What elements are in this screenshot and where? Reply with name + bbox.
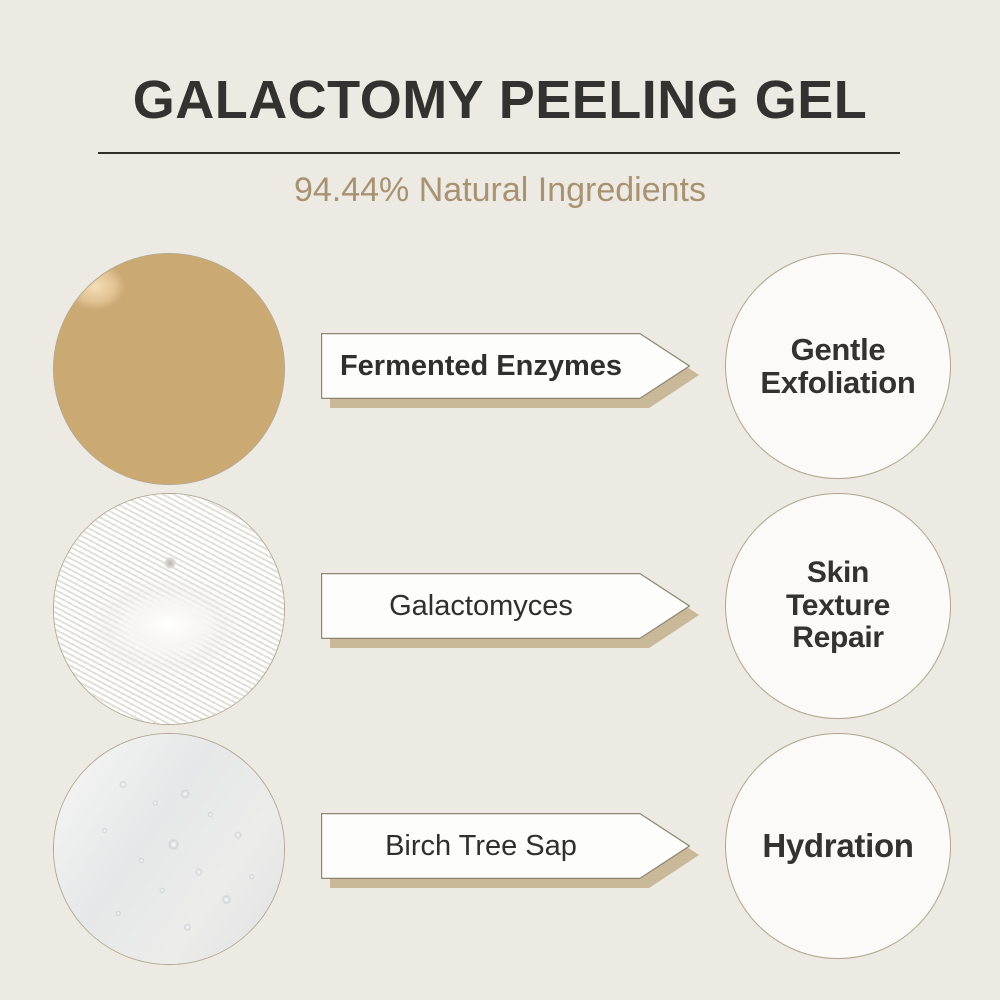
benefit-line: Skin	[786, 557, 890, 589]
soybeans-image	[54, 254, 284, 484]
ingredient-label: Galactomyces	[321, 573, 641, 639]
ingredient-label: Birch Tree Sap	[321, 813, 641, 879]
title-divider	[98, 152, 900, 154]
ingredient-banner: Birch Tree Sap	[321, 813, 699, 893]
benefit-circle: Hydration	[725, 733, 951, 959]
benefit-line: Gentle	[760, 333, 915, 366]
clear-gel-photo	[53, 733, 285, 965]
rice-cream-photo	[53, 493, 285, 725]
ingredient-banner: Fermented Enzymes	[321, 333, 699, 413]
ingredient-row: Galactomyces Skin Texture Repair	[0, 491, 1000, 729]
benefit-circle: Gentle Exfoliation	[725, 253, 951, 479]
benefit-label: Hydration	[756, 828, 919, 864]
rice-cream-image	[54, 494, 284, 724]
soybeans-photo	[53, 253, 285, 485]
ingredient-label: Fermented Enzymes	[321, 333, 641, 399]
page-title: GALACTOMY PEELING GEL	[0, 70, 1000, 130]
benefit-label: Gentle Exfoliation	[754, 333, 921, 400]
benefit-line: Exfoliation	[760, 366, 915, 399]
benefit-line: Texture	[786, 590, 890, 622]
benefit-line: Hydration	[762, 828, 913, 864]
benefit-label: Skin Texture Repair	[780, 557, 896, 654]
ingredient-row: Birch Tree Sap Hydration	[0, 731, 1000, 969]
ingredient-banner: Galactomyces	[321, 573, 699, 653]
header: GALACTOMY PEELING GEL 94.44% Natural Ing…	[0, 0, 1000, 235]
infographic-poster: GALACTOMY PEELING GEL 94.44% Natural Ing…	[0, 0, 1000, 1000]
clear-gel-image	[54, 734, 284, 964]
benefit-circle: Skin Texture Repair	[725, 493, 951, 719]
ingredient-row: Fermented Enzymes Gentle Exfoliation	[0, 251, 1000, 489]
page-subtitle: 94.44% Natural Ingredients	[0, 168, 1000, 212]
benefit-line: Repair	[786, 622, 890, 654]
